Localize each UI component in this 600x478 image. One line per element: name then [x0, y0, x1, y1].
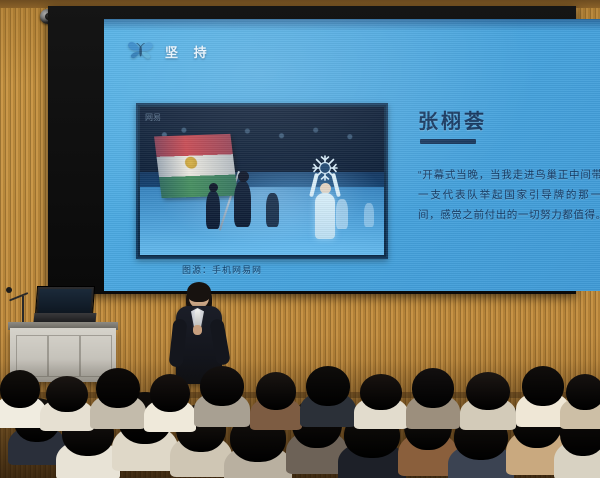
audience-member-head [412, 368, 454, 408]
slide-logo-title: 坚 持 [165, 42, 213, 61]
audience-member-head [46, 376, 88, 412]
slide-person-name: 张栩荟 [418, 105, 487, 134]
audience-member-head [0, 370, 40, 408]
photo-placard-bearer-body [315, 193, 335, 239]
gooseneck-microphone-stand [22, 296, 24, 322]
photo-figure-2 [206, 191, 220, 229]
photo-flag [154, 134, 238, 198]
photo-figure-5 [364, 203, 374, 227]
slide-person-quote: “开幕式当晚，当我走进鸟巢正中间带着一支代表队举起国家引导牌的那一瞬间，感觉之前… [418, 165, 600, 225]
slide-photo-caption: 图源：手机网易网 [182, 263, 262, 276]
audience-member-head [306, 366, 350, 406]
photo-placard-bearer [308, 159, 342, 245]
presenter-hand [193, 325, 202, 335]
photo-flag-shading [154, 134, 238, 198]
audience-member-head [522, 366, 564, 406]
slide-header-strip [104, 19, 600, 31]
photo-watermark: 网易 [145, 112, 161, 123]
slide-logo-group: 坚 持 [126, 38, 213, 64]
laptop-display [38, 289, 92, 313]
slide-photo-frame: 网易 [136, 103, 388, 259]
slide-photo: 网易 [140, 107, 384, 255]
projector-screen: 坚 持 网易 [104, 19, 600, 291]
photo-figure-2-head [209, 183, 218, 192]
slide-divider-rule [420, 139, 476, 144]
photo-figure-bearer-head [238, 171, 249, 182]
audience-member-head [200, 366, 244, 406]
photo-figure-bearer [234, 181, 251, 227]
lecture-hall-scene: 坚 持 网易 [0, 0, 600, 478]
audience-member-head [566, 374, 600, 410]
butterfly-icon [126, 38, 156, 64]
audience-member-head [466, 372, 510, 410]
laptop-screen [35, 286, 95, 316]
photo-figure-3 [266, 193, 279, 227]
audience-member-head [256, 372, 296, 410]
projector-screen-bezel: 坚 持 网易 [48, 6, 576, 294]
audience-member-head [96, 368, 140, 408]
laptop-base [34, 313, 97, 322]
audience-member-head [360, 374, 402, 410]
gooseneck-microphone-head [6, 287, 12, 293]
presenter-hair [187, 282, 211, 302]
audience-member-head [150, 374, 190, 412]
